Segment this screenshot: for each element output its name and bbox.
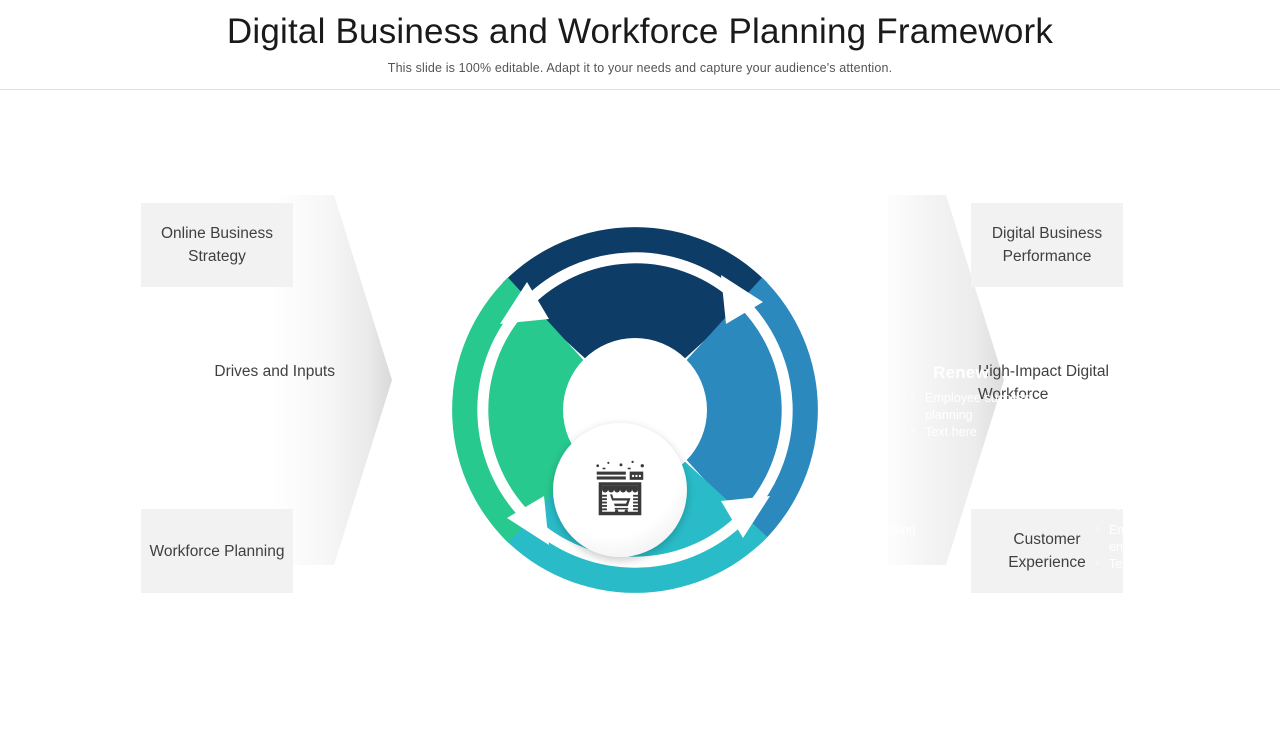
label-drives-and-inputs: Drives and Inputs [170, 360, 335, 383]
slide-header: Digital Business and Workforce Planning … [0, 0, 1280, 90]
diagram-stage: Online Business Strategy Drives and Inpu… [0, 90, 1280, 720]
list-item: Text here [910, 424, 1065, 441]
quadrant-retain-title: Retain [1116, 495, 1238, 515]
quadrant-renew-bullets: Employee success planning Text here [910, 390, 1065, 441]
quadrant-release-bullets: Transactional management Text here [923, 678, 1085, 729]
quadrant-retain-bullets: Employee engagement Text here [1094, 522, 1238, 573]
shopping-cart-icon [609, 494, 631, 513]
confetti-dots [596, 461, 644, 470]
label-digital-business-performance: Digital Business Performance [971, 203, 1123, 287]
label-workforce-planning: Workforce Planning [141, 509, 293, 593]
browser-bar [597, 472, 644, 480]
quadrant-release-title: Release [887, 651, 1085, 671]
quadrant-renew: Renew Employee success planning Text her… [875, 363, 1065, 442]
list-item: Text here [923, 712, 1085, 729]
page-title: Digital Business and Workforce Planning … [0, 0, 1280, 55]
center-hub [553, 423, 687, 557]
list-item: Employee success planning [910, 390, 1065, 423]
quadrant-renew-title: Renew [857, 363, 1065, 383]
online-shop-icon [589, 459, 651, 521]
cycle-wheel: Renew Employee success planning Text her… [375, 150, 895, 670]
list-item: Employee engagement [1094, 522, 1238, 555]
quadrant-recruit-bullets: Employer branding Text here [795, 522, 948, 556]
quadrant-release: Release Transactional management Text he… [895, 651, 1085, 730]
quadrant-retain: Retain Employee engagement Text here [1078, 495, 1238, 574]
list-item: Text here [795, 540, 948, 557]
list-item: Employer branding [795, 522, 948, 539]
awning [602, 486, 638, 493]
list-item: Transactional management [923, 678, 1085, 711]
quadrant-recruit-title: Recruit [811, 495, 948, 515]
label-online-business-strategy: Online Business Strategy [141, 203, 293, 287]
quadrant-recruit: Recruit Employer branding Text here [783, 495, 948, 557]
list-item: Text here [1094, 556, 1238, 573]
page-subtitle: This slide is 100% editable. Adapt it to… [0, 55, 1280, 75]
